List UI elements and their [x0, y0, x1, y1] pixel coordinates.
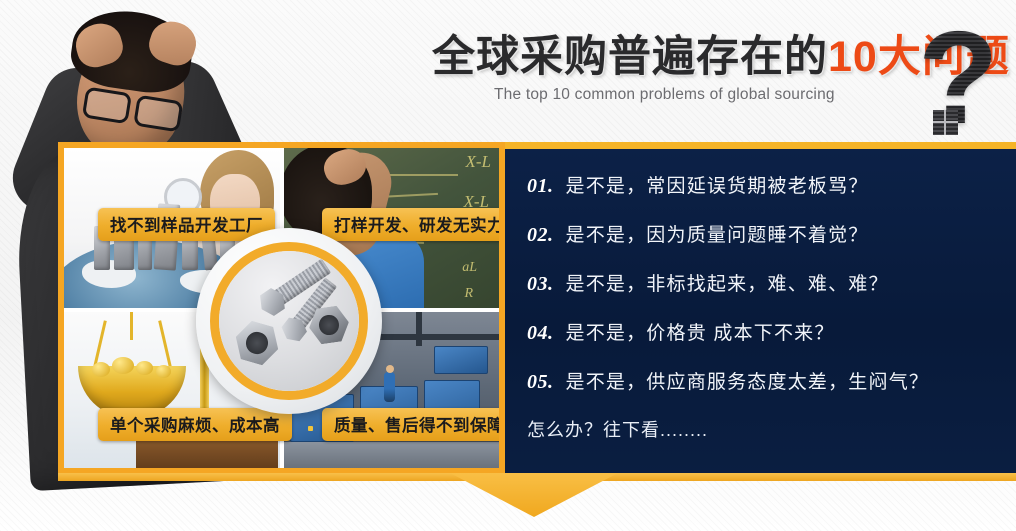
eyeglasses-icon — [83, 86, 184, 127]
list-item: 03. 是不是，非标找起来，难、难、难？ — [527, 269, 1002, 296]
bolts-photo — [219, 251, 359, 391]
scale-chain — [130, 312, 133, 340]
gold-nugget — [112, 357, 134, 374]
question-mark-icon: ? — [918, 24, 1010, 152]
businessman-hair — [67, 4, 197, 98]
list-item-text: 是不是，价格贵 成本下不来？ — [566, 318, 835, 345]
list-item-number: 02. — [527, 224, 554, 247]
list-item-text: 是不是，因为质量问题睡不着觉？ — [566, 220, 869, 247]
page-title-plain: 全球采购普遍存在的 — [432, 33, 828, 81]
promo-banner: 全球采购普遍存在的10大问题 The top 10 common problem… — [0, 0, 1016, 531]
gold-nugget — [156, 365, 171, 378]
businessman-left-hand — [71, 18, 127, 71]
list-item-number: 03. — [527, 273, 554, 296]
businessman-right-hand — [145, 16, 202, 70]
list-item-text: 是不是，供应商服务态度太差，生闷气？ — [566, 367, 930, 394]
list-item-number: 01. — [527, 175, 554, 198]
factory-worker — [384, 372, 395, 402]
chalk-formula: X-L — [466, 152, 492, 172]
factory-floor — [284, 442, 499, 468]
gold-nugget — [136, 361, 153, 375]
list-item-number: 05. — [527, 371, 554, 394]
caption-rnd-capability: 打样开发、研发无实力 — [322, 208, 505, 241]
gold-nugget — [92, 362, 110, 377]
list-item-number: 04. — [527, 322, 554, 345]
caption-quality: 质量、售后得不到保障 — [322, 408, 505, 441]
badge-ring — [210, 242, 368, 400]
machine-indicator — [308, 426, 313, 431]
list-item: 04. 是不是，价格贵 成本下不来？ — [527, 318, 1002, 345]
question-mark-glyph: ? — [918, 12, 999, 144]
caption-cost: 单个采购麻烦、成本高 — [98, 408, 292, 441]
scroll-down-arrow — [450, 473, 618, 517]
list-item: 02. 是不是，因为质量问题睡不着觉？ — [527, 220, 1002, 247]
problems-list: 01. 是不是，常因延误货期被老板骂？ 02. 是不是，因为质量问题睡不着觉？ … — [527, 171, 1002, 442]
list-item-text: 是不是，常因延误货期被老板骂？ — [566, 171, 869, 198]
factory-machine — [434, 346, 488, 374]
chalk-formula: aL — [462, 260, 477, 276]
list-item: 01. 是不是，常因延误货期被老板骂？ — [527, 171, 1002, 198]
question-mark-dot — [933, 110, 958, 135]
list-item-text: 是不是，非标找起来，难、难、难？ — [566, 269, 889, 296]
hex-nut — [230, 318, 283, 369]
center-badge — [196, 228, 382, 414]
headline-block: 全球采购普遍存在的10大问题 The top 10 common problem… — [432, 36, 1016, 140]
problems-panel: 01. 是不是，常因延误货期被老板骂？ 02. 是不是，因为质量问题睡不着觉？ … — [505, 142, 1016, 474]
factory-beam — [416, 312, 422, 346]
list-item: 05. 是不是，供应商服务态度太差，生闷气？ — [527, 367, 1002, 394]
panel-footer-text: 怎么办？往下看........ — [527, 416, 1002, 442]
chalk-formula: R — [464, 286, 473, 302]
